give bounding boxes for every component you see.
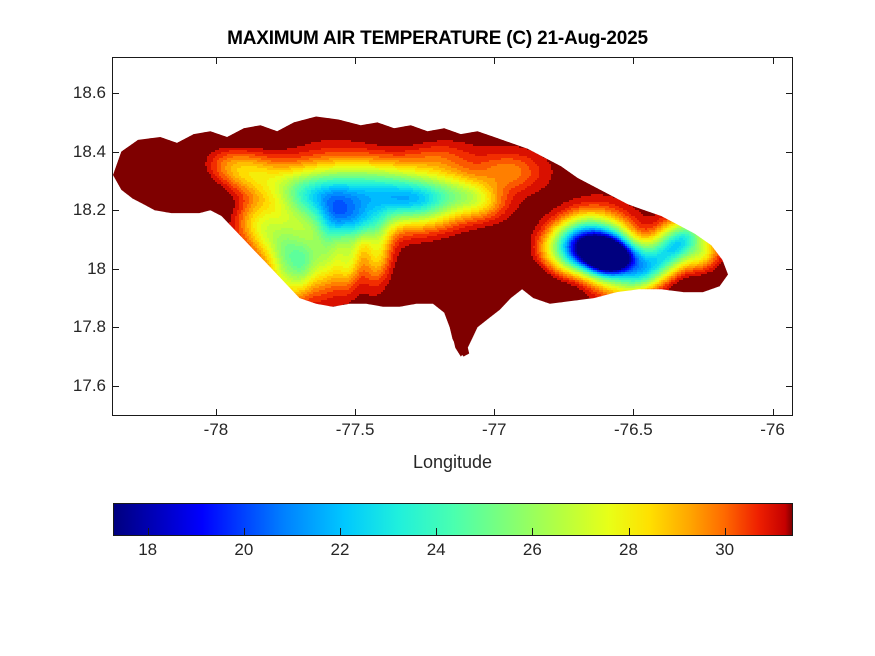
y-axis-tick-labels: 18.618.418.21817.817.6 bbox=[32, 57, 106, 416]
x-tickmark bbox=[355, 409, 356, 415]
colorbar-tickmark bbox=[436, 528, 437, 535]
x-tickmark bbox=[355, 58, 356, 64]
temperature-map bbox=[113, 58, 792, 415]
colorbar-tick-label: 20 bbox=[234, 540, 253, 560]
x-axis-title: Longitude bbox=[112, 452, 793, 473]
x-tickmark bbox=[773, 58, 774, 64]
colorbar-tickmark bbox=[148, 528, 149, 535]
colorbar-tick-label: 24 bbox=[427, 540, 446, 560]
x-tickmark bbox=[494, 58, 495, 64]
x-tickmark bbox=[494, 409, 495, 415]
y-tickmark bbox=[786, 269, 792, 270]
colorbar-tickmark bbox=[244, 528, 245, 535]
x-axis-tick-label: -78 bbox=[204, 420, 229, 440]
y-axis-tick-label: 18.6 bbox=[36, 83, 106, 103]
y-tickmark bbox=[786, 210, 792, 211]
y-axis-tick-label: 18 bbox=[36, 259, 106, 279]
temperature-field bbox=[113, 58, 792, 415]
x-axis-tick-labels: -78-77.5-77-76.5-76 bbox=[112, 420, 793, 448]
x-tickmark bbox=[633, 409, 634, 415]
x-tickmark bbox=[773, 409, 774, 415]
y-tickmark bbox=[113, 327, 119, 328]
x-tickmark bbox=[633, 58, 634, 64]
colorbar-tick-label: 28 bbox=[619, 540, 638, 560]
colorbar-tickmark bbox=[725, 528, 726, 535]
y-tickmark bbox=[113, 269, 119, 270]
y-axis-tick-label: 18.2 bbox=[36, 200, 106, 220]
x-tickmark bbox=[216, 409, 217, 415]
x-axis-tick-label: -76.5 bbox=[614, 420, 653, 440]
x-axis-tick-label: -77 bbox=[482, 420, 507, 440]
page-title: MAXIMUM AIR TEMPERATURE (C) 21-Aug-2025 bbox=[0, 28, 875, 50]
y-tickmark bbox=[786, 327, 792, 328]
y-axis-tick-label: 17.6 bbox=[36, 376, 106, 396]
y-tickmark bbox=[113, 386, 119, 387]
y-tickmark bbox=[786, 93, 792, 94]
x-axis-tick-label: -76 bbox=[760, 420, 785, 440]
colorbar-tickmark bbox=[629, 528, 630, 535]
colorbar-tickmark bbox=[340, 528, 341, 535]
map-axes bbox=[112, 57, 793, 416]
y-axis-tick-label: 18.4 bbox=[36, 142, 106, 162]
y-tickmark bbox=[113, 152, 119, 153]
colorbar-tickmark bbox=[532, 528, 533, 535]
colorbar-tick-label: 18 bbox=[138, 540, 157, 560]
y-tickmark bbox=[786, 386, 792, 387]
colorbar-tick-label: 30 bbox=[715, 540, 734, 560]
colorbar-tick-labels: 18202224262830 bbox=[113, 540, 793, 564]
y-tickmark bbox=[113, 210, 119, 211]
figure-canvas: MAXIMUM AIR TEMPERATURE (C) 21-Aug-2025 … bbox=[0, 0, 875, 656]
y-tickmark bbox=[786, 152, 792, 153]
y-tickmark bbox=[113, 93, 119, 94]
x-axis-tick-label: -77.5 bbox=[336, 420, 375, 440]
x-tickmark bbox=[216, 58, 217, 64]
colorbar-gradient bbox=[114, 504, 792, 535]
colorbar-tick-label: 22 bbox=[331, 540, 350, 560]
y-axis-tick-label: 17.8 bbox=[36, 317, 106, 337]
colorbar-tick-label: 26 bbox=[523, 540, 542, 560]
colorbar bbox=[113, 503, 793, 536]
